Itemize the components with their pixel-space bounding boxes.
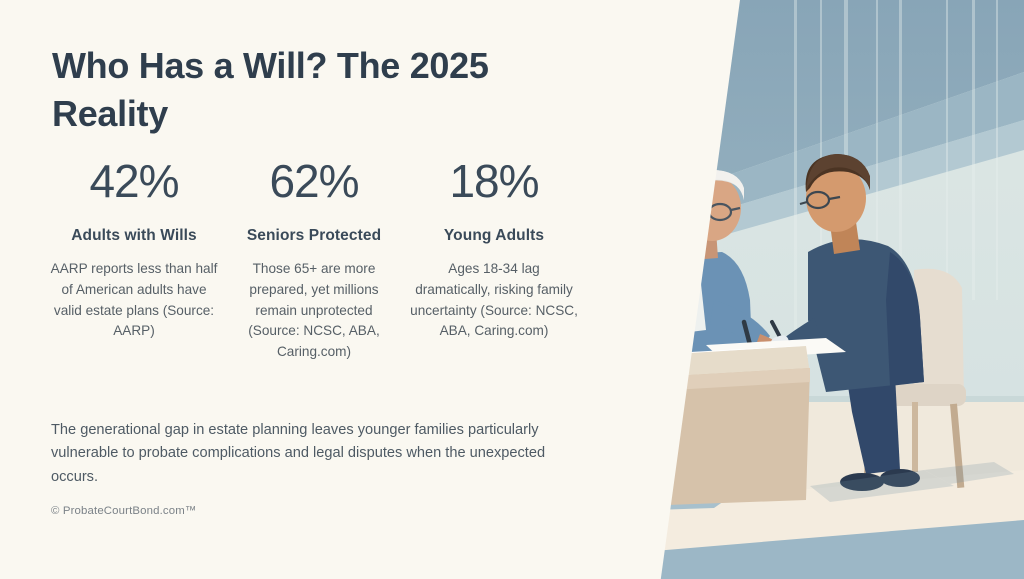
stat-description: Those 65+ are more prepared, yet million… (230, 259, 398, 363)
stat-label: Young Adults (410, 227, 578, 245)
copyright-footer: © ProbateCourtBond.com™ (51, 505, 196, 517)
stat-label: Seniors Protected (230, 227, 398, 245)
content-panel: Who Has a Will? The 2025 Reality 42% Adu… (0, 0, 600, 579)
stat-description: AARP reports less than half of American … (50, 259, 218, 342)
page-title: Who Has a Will? The 2025 Reality (52, 42, 552, 137)
stat-card-seniors-protected: 62% Seniors Protected Those 65+ are more… (224, 158, 404, 363)
stat-value: 42% (50, 158, 218, 205)
stat-description: Ages 18-34 lag dramatically, risking fam… (410, 259, 578, 342)
summary-paragraph: The generational gap in estate planning … (51, 419, 581, 490)
office-scene-illustration (594, 0, 1024, 579)
stat-card-adults-with-wills: 42% Adults with Wills AARP reports less … (44, 158, 224, 342)
statistics-row: 42% Adults with Wills AARP reports less … (44, 158, 584, 363)
stat-label: Adults with Wills (50, 227, 218, 245)
chair-leg-3 (912, 402, 918, 472)
stat-card-young-adults: 18% Young Adults Ages 18-34 lag dramatic… (404, 158, 584, 342)
stat-value: 18% (410, 158, 578, 205)
illustration-panel (594, 0, 1024, 579)
stat-value: 62% (230, 158, 398, 205)
infographic-canvas: Who Has a Will? The 2025 Reality 42% Adu… (0, 0, 1024, 579)
